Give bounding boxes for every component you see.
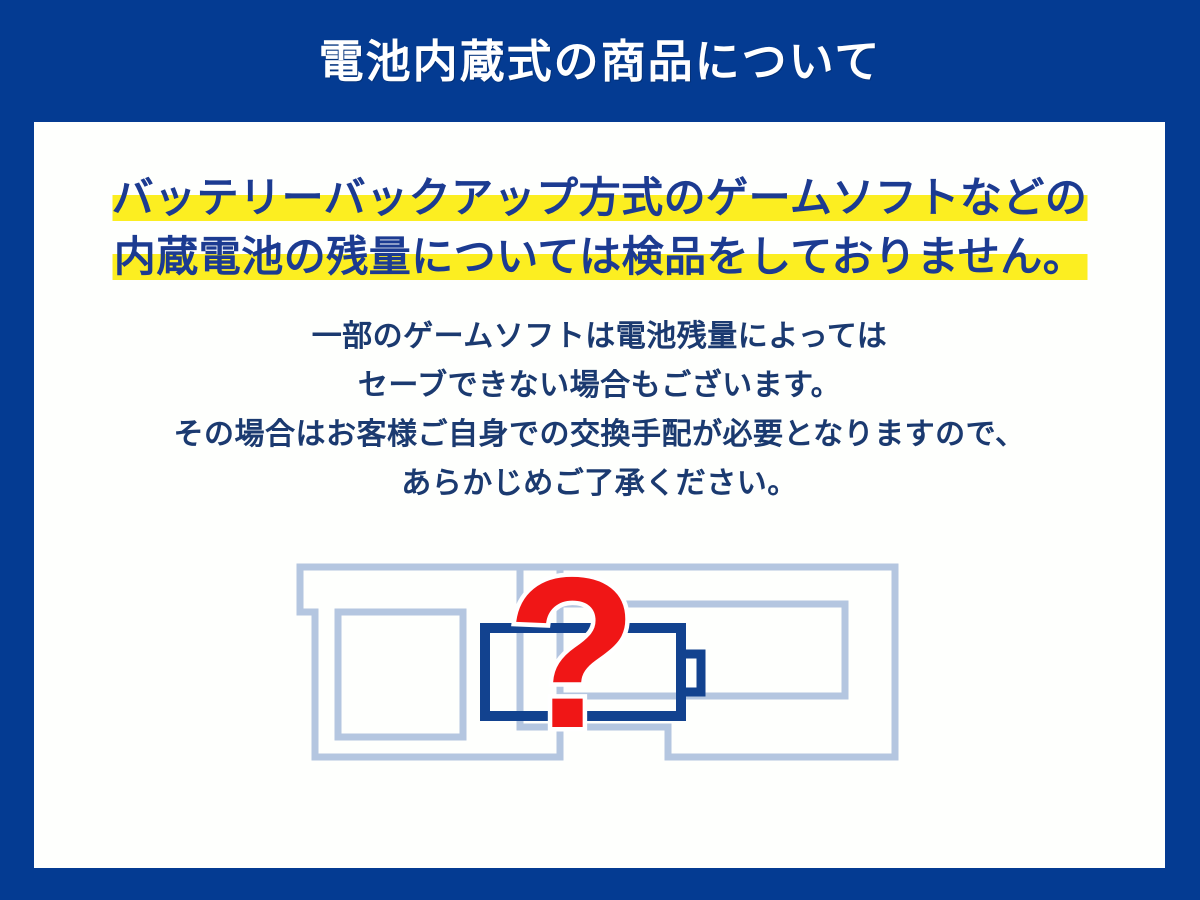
headline-line-2: 内蔵電池の残量については検品をしておりません。 bbox=[34, 227, 1165, 286]
headline-text-2: 内蔵電池の残量については検品をしておりません。 bbox=[114, 233, 1086, 280]
headline-line-1: バッテリーバックアップ方式のゲームソフトなどの bbox=[34, 168, 1165, 227]
headline-text-1: バッテリーバックアップ方式のゲームソフトなどの bbox=[112, 174, 1088, 221]
body-line-4: あらかじめご了承ください。 bbox=[34, 459, 1165, 508]
body-line-3: その場合はお客様ご自身での交換手配が必要となりますので、 bbox=[34, 410, 1165, 459]
content-panel: バッテリーバックアップ方式のゲームソフトなどの 内蔵電池の残量については検品をし… bbox=[34, 122, 1165, 868]
battery-cartridge-illustration: ? bbox=[270, 542, 930, 782]
headline-block: バッテリーバックアップ方式のゲームソフトなどの 内蔵電池の残量については検品をし… bbox=[34, 168, 1165, 286]
body-line-2: セーブできない場合もございます。 bbox=[34, 361, 1165, 410]
question-mark-icon: ? bbox=[506, 542, 637, 773]
cartridge-left-label bbox=[338, 612, 463, 737]
body-line-1: 一部のゲームソフトは電池残量によっては bbox=[34, 312, 1165, 361]
slide-root: 電池内蔵式の商品について バッテリーバックアップ方式のゲームソフトなどの 内蔵電… bbox=[0, 0, 1200, 900]
battery-terminal bbox=[681, 654, 701, 692]
title-band: 電池内蔵式の商品について bbox=[0, 0, 1200, 122]
illustration-block: ? bbox=[34, 542, 1165, 802]
body-block: 一部のゲームソフトは電池残量によっては セーブできない場合もございます。 その場… bbox=[34, 312, 1165, 508]
page-title: 電池内蔵式の商品について bbox=[319, 39, 882, 84]
